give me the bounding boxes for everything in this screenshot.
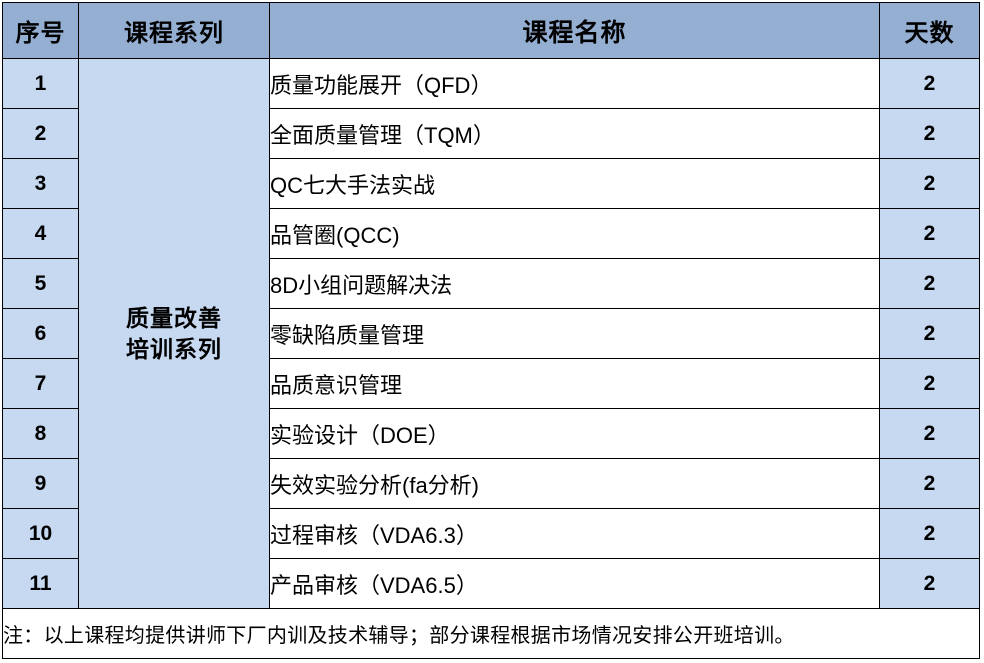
course-name: 全面质量管理（TQM） <box>270 109 880 159</box>
course-days: 2 <box>880 359 980 409</box>
course-name: 零缺陷质量管理 <box>270 309 880 359</box>
course-days: 2 <box>880 559 980 609</box>
column-header-days: 天数 <box>880 3 980 59</box>
row-number: 9 <box>3 459 79 509</box>
row-number: 1 <box>3 59 79 109</box>
footnote-text: 注：以上课程均提供讲师下厂内训及技术辅导；部分课程根据市场情况安排公开班培训。 <box>3 609 980 659</box>
course-days: 2 <box>880 259 980 309</box>
course-days: 2 <box>880 459 980 509</box>
row-number: 11 <box>3 559 79 609</box>
column-header-series: 课程系列 <box>79 3 270 59</box>
table-header: 序号 课程系列 课程名称 天数 <box>3 3 980 59</box>
row-number: 8 <box>3 409 79 459</box>
course-name: 质量功能展开（QFD） <box>270 59 880 109</box>
column-header-no: 序号 <box>3 3 79 59</box>
series-label: 质量改善 培训系列 <box>79 303 269 364</box>
row-number: 4 <box>3 209 79 259</box>
course-days: 2 <box>880 209 980 259</box>
course-name: 过程审核（VDA6.3） <box>270 509 880 559</box>
course-name: 失效实验分析(fa分析) <box>270 459 880 509</box>
header-row: 序号 课程系列 课程名称 天数 <box>3 3 980 59</box>
table-body: 1 质量改善 培训系列 质量功能展开（QFD） 2 2 全面质量管理（TQM） … <box>3 59 980 659</box>
course-days: 2 <box>880 59 980 109</box>
course-table: 序号 课程系列 课程名称 天数 1 质量改善 培训系列 质量功能展开（QFD） … <box>2 2 980 659</box>
course-days: 2 <box>880 409 980 459</box>
course-name: 实验设计（DOE） <box>270 409 880 459</box>
course-days: 2 <box>880 109 980 159</box>
row-number: 10 <box>3 509 79 559</box>
row-number: 6 <box>3 309 79 359</box>
course-name: QC七大手法实战 <box>270 159 880 209</box>
table-row: 1 质量改善 培训系列 质量功能展开（QFD） 2 <box>3 59 980 109</box>
row-number: 5 <box>3 259 79 309</box>
course-days: 2 <box>880 309 980 359</box>
row-number: 3 <box>3 159 79 209</box>
course-name: 8D小组问题解决法 <box>270 259 880 309</box>
course-days: 2 <box>880 509 980 559</box>
footnote-row: 注：以上课程均提供讲师下厂内训及技术辅导；部分课程根据市场情况安排公开班培训。 <box>3 609 980 659</box>
course-name: 产品审核（VDA6.5） <box>270 559 880 609</box>
row-number: 2 <box>3 109 79 159</box>
column-header-name: 课程名称 <box>270 3 880 59</box>
course-name: 品质意识管理 <box>270 359 880 409</box>
course-catalog-sheet: 序号 课程系列 课程名称 天数 1 质量改善 培训系列 质量功能展开（QFD） … <box>0 2 984 663</box>
course-days: 2 <box>880 159 980 209</box>
course-name: 品管圈(QCC) <box>270 209 880 259</box>
row-number: 7 <box>3 359 79 409</box>
series-merged-cell: 质量改善 培训系列 <box>79 59 270 609</box>
